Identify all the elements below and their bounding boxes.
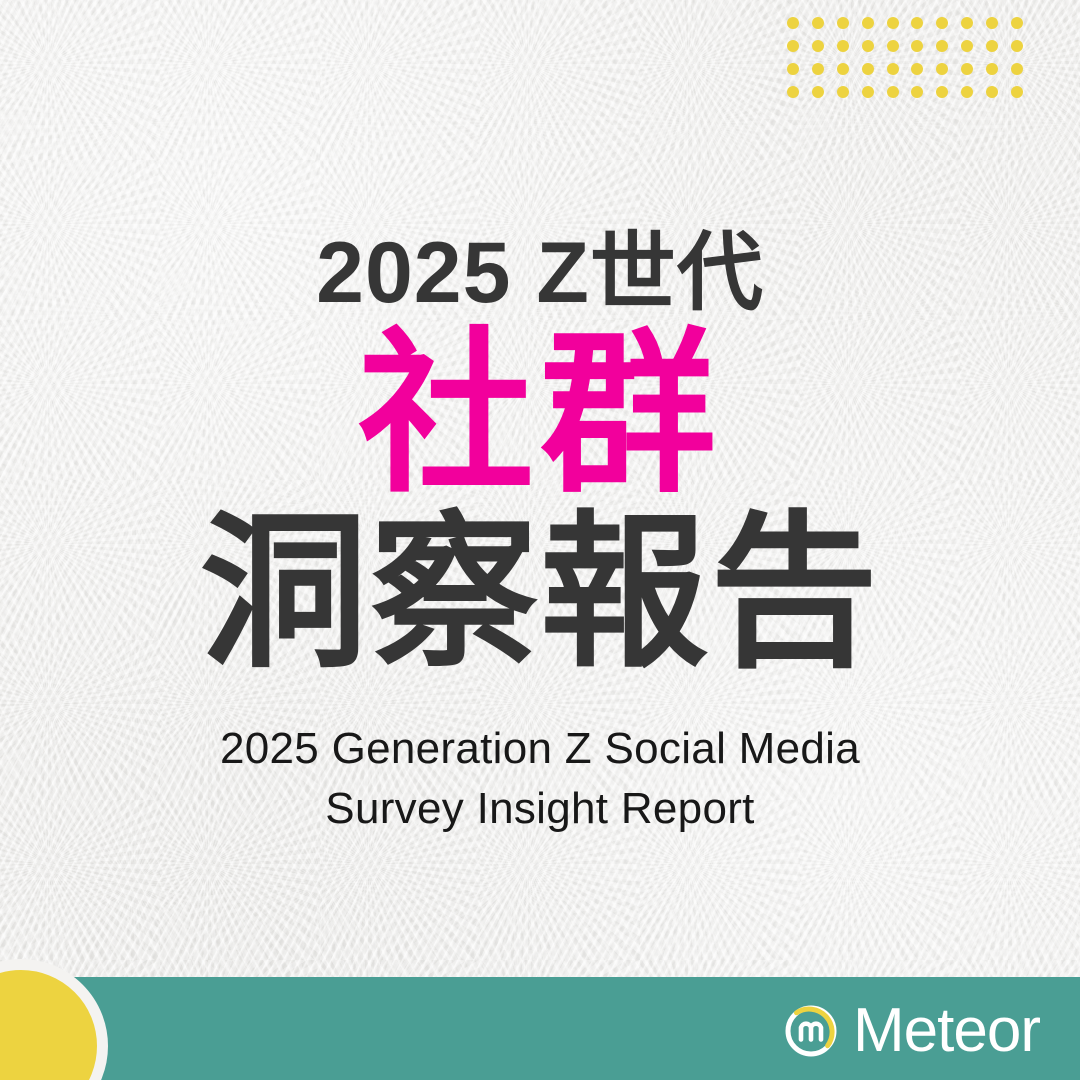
brand-lockup: Meteor [783,995,1040,1067]
subtitle-line-2: Survey Insight Report [0,779,1080,838]
grid-dot [787,86,799,98]
grid-dot [1011,86,1023,98]
subtitle-line-1: 2025 Generation Z Social Media [0,719,1080,778]
grid-dot [961,63,973,75]
yellow-dot-grid [781,11,1029,103]
grid-dot [961,17,973,29]
grid-dot [887,17,899,29]
grid-dot [862,17,874,29]
grid-dot [812,63,824,75]
grid-dot [911,86,923,98]
grid-dot [787,17,799,29]
grid-dot [911,40,923,52]
grid-dot [986,40,998,52]
title-line-year-generation: 2025 Z世代 [0,228,1080,318]
grid-dot [936,40,948,52]
grid-dot [936,17,948,29]
grid-dot [862,86,874,98]
poster-canvas: 2025 Z世代 社群 洞察報告 2025 Generation Z Socia… [0,0,1080,1080]
grid-dot [1011,63,1023,75]
grid-dot [887,86,899,98]
title-line-insight-report: 洞察報告 [0,508,1080,679]
meteor-logo-icon [783,1003,839,1059]
title-line-highlight-social: 社群 [0,326,1080,506]
grid-dot [862,63,874,75]
grid-dot [812,17,824,29]
grid-dot [961,40,973,52]
grid-dot [887,63,899,75]
grid-dot [986,17,998,29]
grid-dot [837,40,849,52]
brand-wordmark: Meteor [853,1000,1040,1062]
grid-dot [787,63,799,75]
grid-dot [1011,40,1023,52]
grid-dot [1011,17,1023,29]
title-block: 2025 Z世代 社群 洞察報告 2025 Generation Z Socia… [0,228,1080,838]
grid-dot [862,40,874,52]
grid-dot [887,40,899,52]
grid-dot [936,63,948,75]
grid-dot [986,86,998,98]
subtitle-block: 2025 Generation Z Social Media Survey In… [0,719,1080,838]
grid-dot [812,40,824,52]
grid-dot [837,86,849,98]
grid-dot [911,63,923,75]
grid-dot [837,63,849,75]
grid-dot [837,17,849,29]
grid-dot [911,17,923,29]
grid-dot [961,86,973,98]
grid-dot [812,86,824,98]
grid-dot [936,86,948,98]
grid-dot [787,40,799,52]
grid-dot [986,63,998,75]
